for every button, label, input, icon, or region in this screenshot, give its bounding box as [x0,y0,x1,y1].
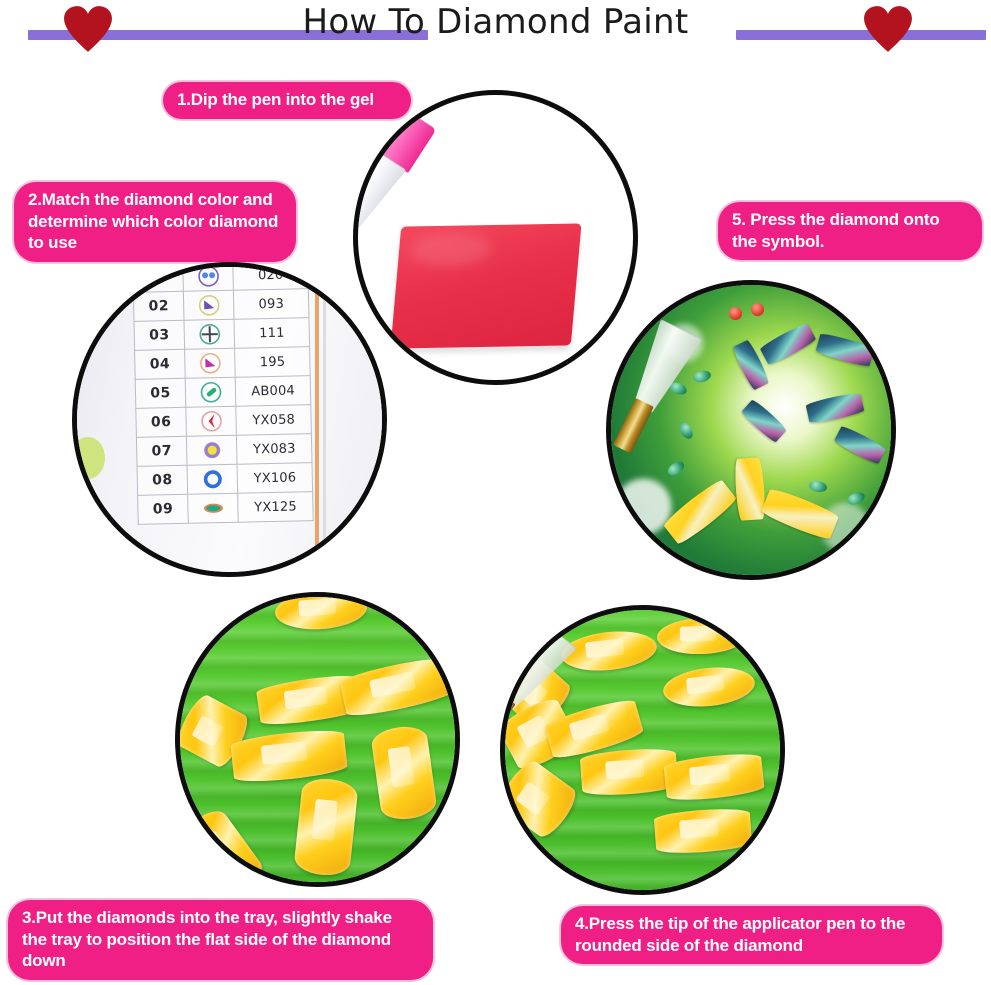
step-label-3: 3.Put the diamonds into the tray, slight… [8,900,433,980]
chart-paper-edge-orange [315,267,319,572]
photo-diamonds-in-tray [175,592,460,887]
color-chart-code: 111 [234,318,309,349]
color-chart-number: 02 [133,291,184,321]
symbol-leaf-teal [188,493,239,523]
color-chart-number: 09 [138,494,189,524]
tray-gem-7 [293,776,359,877]
color-chart-number: 08 [137,465,188,495]
symbol-plus-teal-glyph [198,323,220,345]
symbol-double-dot-blue-glyph [197,265,219,287]
color-chart-number: 07 [136,436,187,466]
symbol-leaf-teal-glyph [202,497,224,519]
color-chart-row: 08YX106 [137,463,313,496]
photo-pen-picking-diamond [500,605,785,895]
chart-paper-edge-gray [323,267,326,572]
color-chart-row: 02093 [133,289,309,322]
symbol-slash-green-glyph [199,381,221,403]
step-label-2: 2.Match the diamond color and determine … [14,182,296,262]
symbol-ring-blue [187,464,238,494]
symbol-plus-teal [184,319,235,349]
color-chart-row: 05AB004 [135,376,311,409]
symbol-double-dot-blue [183,262,234,291]
color-chart-code: YX125 [238,492,313,523]
step-label-5: 5. Press the diamond onto the symbol. [718,202,982,260]
color-chart-code: YX106 [237,463,312,494]
color-chart-code: YX083 [237,434,312,465]
symbol-arrow-left-red-glyph [200,410,222,432]
symbol-triangle-purple [184,290,235,320]
photo-pen-dipping-gel [353,90,638,385]
symbol-ring-blue-glyph [201,468,223,490]
symbol-triangle-magenta-glyph [199,352,221,374]
page-title: How To Diamond Paint [0,2,991,42]
color-chart-number: 04 [135,349,186,379]
color-chart-code: 195 [235,347,310,378]
color-chart-row: 04195 [135,347,311,380]
color-chart-table: 02002093031110419505AB00406YX05807YX0830… [132,262,313,525]
symbol-triangle-purple-glyph [198,294,220,316]
color-chart-code: 020 [233,262,308,290]
symbol-slash-green [185,377,236,407]
color-chart-row: 07YX083 [136,434,312,467]
chart-spill-green-1 [72,437,105,479]
color-chart-row: 06YX058 [136,405,312,438]
symbol-triangle-magenta [185,348,236,378]
color-chart-row: 020 [133,262,309,292]
color-chart-number: 05 [135,378,186,408]
color-chart-code: YX058 [236,405,311,436]
photo-placing-diamond-on-canvas [606,280,896,580]
color-chart-number [133,262,184,292]
color-chart-number: 06 [136,407,187,437]
header-banner: How To Diamond Paint [0,0,991,68]
symbol-arrow-left-red [186,406,237,436]
color-chart-row: 03111 [134,318,310,351]
canvas-gem-red-1 [729,307,742,320]
step-label-4: 4.Press the tip of the applicator pen to… [561,906,942,964]
color-chart-number: 03 [134,320,185,350]
symbol-dot-yellow-glyph [201,439,223,461]
color-chart-code: 093 [234,289,309,320]
photo-color-chart: 02002093031110419505AB00406YX05807YX0830… [72,262,387,577]
canvas-gem-red-2 [751,303,764,316]
color-chart-row: 09YX125 [138,492,314,525]
gel-pad [391,223,582,348]
color-chart-code: AB004 [235,376,310,407]
symbol-dot-yellow [187,435,238,465]
